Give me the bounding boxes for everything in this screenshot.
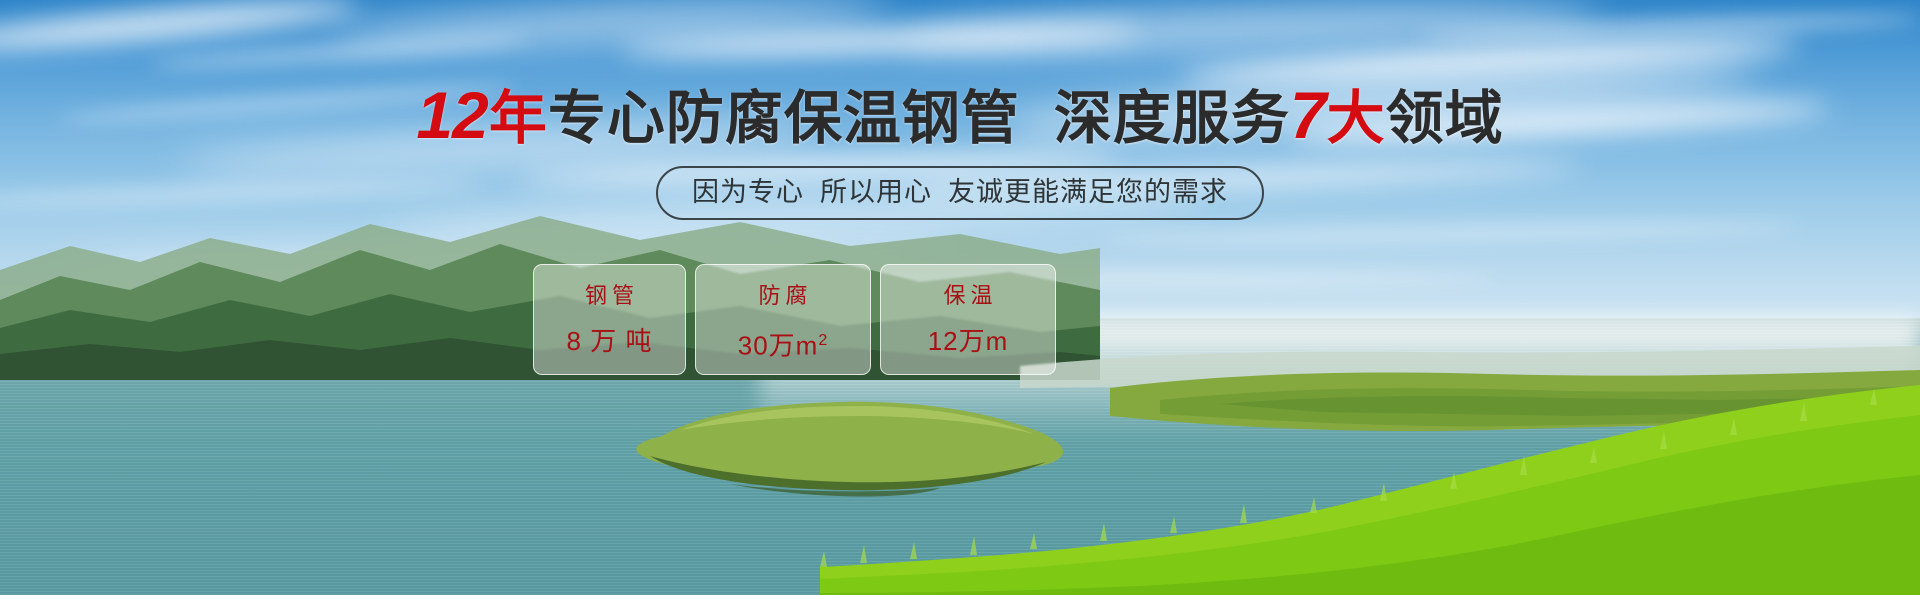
subtitle-segment-1: 因为专心 — [692, 177, 804, 207]
stat-card-insulation[interactable]: 保温 12万m — [880, 264, 1056, 375]
stat-card-steel-pipe[interactable]: 钢管 8 万 吨 — [533, 264, 686, 375]
headline-years-number: 12 — [416, 78, 487, 152]
foreground-grass — [820, 345, 1920, 595]
stat-title-insulation: 保温 — [938, 283, 997, 309]
subtitle-pill: 因为专心所以用心友诚更能满足您的需求 — [656, 166, 1264, 220]
headline-fields-dark: 领域 — [1386, 86, 1504, 151]
stat-value-steel-pipe-main: 8 万 吨 — [567, 326, 653, 356]
stat-card-anticorrosion[interactable]: 防腐 30万m2 — [695, 264, 871, 375]
headline-fields-number: 7 — [1290, 78, 1326, 152]
stat-value-insulation: 12万m — [928, 326, 1009, 356]
stat-card-group: 钢管 8 万 吨 防腐 30万m2 保温 12万m — [533, 264, 1056, 375]
headline-fields-unit: 大 — [1327, 86, 1386, 151]
banner-headline: 12年专心防腐保温钢管深度服务7大领域 — [0, 84, 1920, 150]
stat-value-steel-pipe: 8 万 吨 — [567, 326, 653, 356]
stat-title-anticorrosion: 防腐 — [753, 283, 812, 309]
headline-service-dark: 深度服务 — [1054, 86, 1290, 151]
subtitle-segment-3: 友诚更能满足您的需求 — [948, 177, 1228, 207]
stat-value-anticorrosion: 30万m2 — [738, 326, 829, 361]
stat-value-anticorrosion-superscript: 2 — [818, 332, 828, 349]
headline-main-dark: 专心防腐保温钢管 — [548, 86, 1020, 151]
stat-value-anticorrosion-main: 30万m — [738, 331, 819, 361]
hero-banner: 12年专心防腐保温钢管深度服务7大领域 因为专心所以用心友诚更能满足您的需求 钢… — [0, 0, 1920, 595]
subtitle-segment-2: 所以用心 — [820, 177, 932, 207]
stat-title-steel-pipe: 钢管 — [580, 283, 639, 309]
headline-years-unit: 年 — [489, 86, 548, 151]
stat-value-insulation-main: 12万m — [928, 326, 1009, 356]
